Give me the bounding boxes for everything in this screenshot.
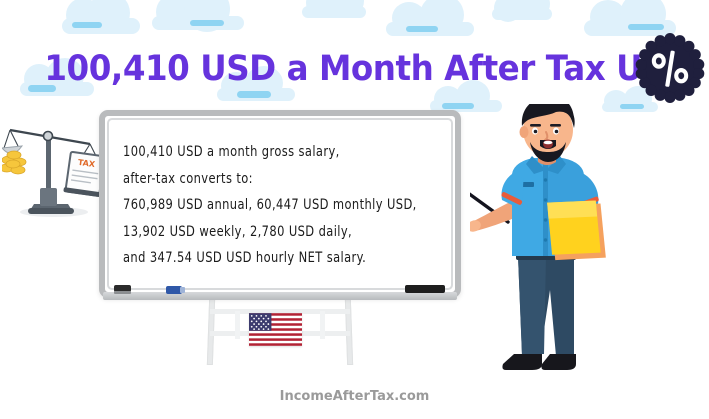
cloud-icon	[300, 0, 370, 24]
footer: IncomeAfterTax.com	[0, 387, 709, 405]
poster-canvas: 100,410 USD a Month After Tax US	[0, 0, 709, 419]
balance-scale-icon: TAX	[2, 112, 106, 220]
cloud-icon	[490, 0, 556, 26]
us-flag-icon	[249, 313, 302, 346]
stand-brace-left	[235, 311, 240, 339]
eraser-felt	[114, 291, 131, 294]
tray-dark-segment	[405, 285, 445, 293]
marker-cap	[180, 287, 185, 293]
site-name[interactable]: IncomeAfterTax.com	[280, 389, 430, 404]
stand-brace-right	[320, 311, 325, 339]
whiteboard-text: 100,410 USD a month gross salary, after-…	[123, 138, 443, 271]
teacher-illustration	[470, 104, 660, 379]
percent-badge-icon	[635, 33, 705, 103]
board-line: and 347.54 USD USD hourly NET salary.	[123, 241, 440, 273]
whiteboard-tray	[103, 292, 457, 300]
page-title: 100,410 USD a Month After Tax US	[44, 49, 665, 89]
whiteboard: 100,410 USD a month gross salary, after-…	[99, 110, 461, 298]
title-container: 100,410 USD a Month After Tax US	[0, 26, 709, 113]
